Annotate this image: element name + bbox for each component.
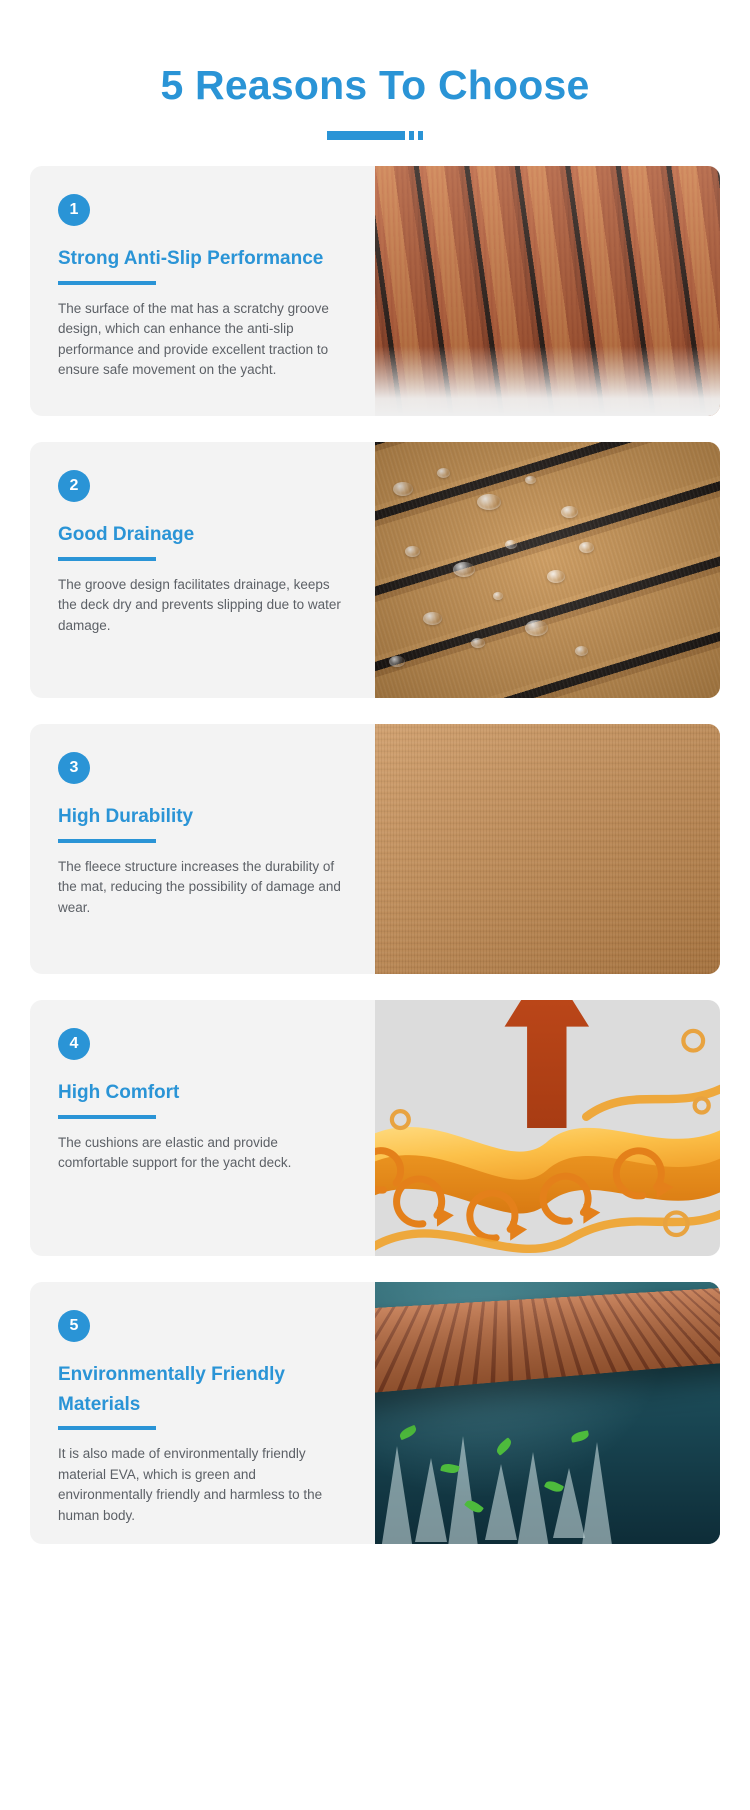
- reason-body-4: The cushions are elastic and provide com…: [58, 1133, 349, 1174]
- reason-title-underline-4: [58, 1115, 156, 1119]
- floor-fade-overlay: [375, 346, 720, 416]
- reason-body-5: It is also made of environmentally frien…: [58, 1444, 349, 1526]
- frosted-tree: [581, 1442, 613, 1544]
- reason-body-2: The groove design facilitates drainage, …: [58, 575, 349, 637]
- eco-mat-underwater-forest-photo: [375, 1282, 720, 1544]
- reason-title-underline-1: [58, 281, 156, 285]
- teak-decking-planks-photo: [375, 166, 720, 416]
- reason-title-3: High Durability: [58, 802, 349, 831]
- page-header: 5 Reasons To Choose: [0, 0, 750, 140]
- reason-card-3-text: 3 High Durability The fleece structure i…: [30, 724, 375, 974]
- vignette-overlay: [375, 442, 720, 698]
- reason-number-badge-4: 4: [58, 1028, 90, 1060]
- reason-body-3: The fleece structure increases the durab…: [58, 857, 349, 919]
- frosted-tree: [381, 1446, 413, 1544]
- reason-body-1: The surface of the mat has a scratchy gr…: [58, 299, 349, 381]
- reason-number-badge-3: 3: [58, 752, 90, 784]
- reason-card-2-text: 2 Good Drainage The groove design facili…: [30, 442, 375, 698]
- upward-arrow-icon: [505, 1000, 589, 1128]
- divider-bar-long: [327, 131, 405, 140]
- cushion-elasticity-illustration: [375, 1000, 720, 1256]
- reason-card-2: 2 Good Drainage The groove design facili…: [30, 442, 720, 698]
- reason-card-1: 1 Strong Anti-Slip Performance The surfa…: [30, 166, 720, 416]
- reasons-list: 1 Strong Anti-Slip Performance The surfa…: [0, 166, 750, 1544]
- reason-card-1-text: 1 Strong Anti-Slip Performance The surfa…: [30, 166, 375, 416]
- reason-card-4: 4 High Comfort The cushions are elastic …: [30, 1000, 720, 1256]
- reason-number-badge-5: 5: [58, 1310, 90, 1342]
- reason-title-underline-5: [58, 1426, 156, 1430]
- fleece-texture-closeup-photo: [375, 724, 720, 974]
- divider-tick-2: [418, 131, 423, 140]
- reason-title-1: Strong Anti-Slip Performance: [58, 244, 349, 273]
- wet-deck-water-droplets-photo: [375, 442, 720, 698]
- reason-title-4: High Comfort: [58, 1078, 349, 1107]
- reason-title-2: Good Drainage: [58, 520, 349, 549]
- frosted-tree: [447, 1436, 479, 1544]
- lighting-overlay: [375, 724, 720, 974]
- page-title: 5 Reasons To Choose: [0, 62, 750, 109]
- reason-title-5: Environmentally Friendly Materials: [58, 1360, 349, 1419]
- reason-number-badge-1: 1: [58, 194, 90, 226]
- infographic-page: 5 Reasons To Choose 1 Strong Anti-Slip P…: [0, 0, 750, 1810]
- title-divider: [0, 131, 750, 140]
- frosted-tree: [517, 1452, 549, 1544]
- reason-number-badge-2: 2: [58, 470, 90, 502]
- reason-card-5-text: 5 Environmentally Friendly Materials It …: [30, 1282, 375, 1544]
- reason-card-4-text: 4 High Comfort The cushions are elastic …: [30, 1000, 375, 1256]
- reason-card-3: 3 High Durability The fleece structure i…: [30, 724, 720, 974]
- cushion-diagram: [375, 1000, 720, 1256]
- frosted-tree: [485, 1464, 517, 1540]
- reason-card-5: 5 Environmentally Friendly Materials It …: [30, 1282, 720, 1544]
- reason-title-underline-2: [58, 557, 156, 561]
- reason-title-underline-3: [58, 839, 156, 843]
- divider-tick-1: [409, 131, 414, 140]
